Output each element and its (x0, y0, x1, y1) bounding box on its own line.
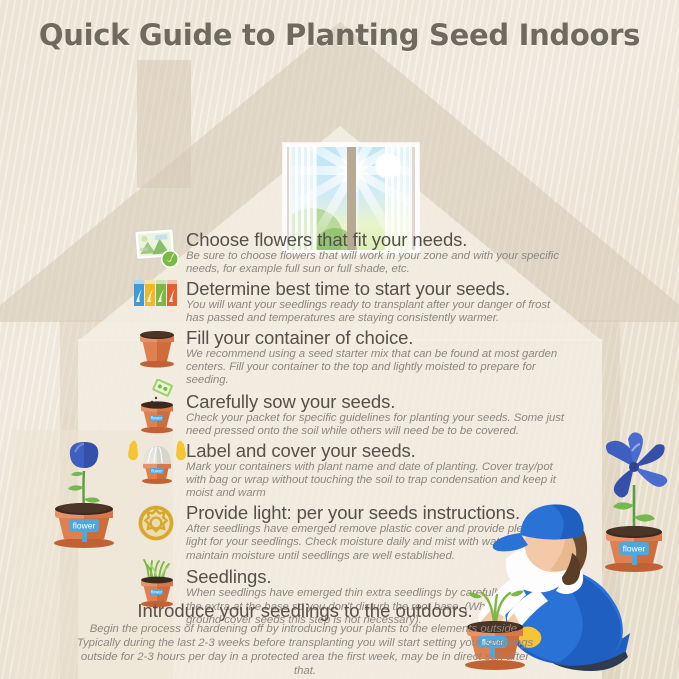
filled-pot-icon (132, 325, 182, 369)
potted-blue-bell-flower: flower (38, 415, 133, 555)
pot-label-text: flower (151, 415, 163, 420)
step-heading: Label and cover your seeds. (186, 440, 564, 461)
footer-body: Begin the process of hardening off by in… (70, 622, 540, 678)
step-heading: Choose flowers that fit your needs. (186, 229, 564, 250)
plant-label-text: flower (73, 521, 96, 531)
step-item-sow-seeds: flower Carefully sow your seeds. Check y… (132, 389, 564, 439)
step-body: Mark your containers with plant name and… (186, 461, 564, 501)
step-heading: Carefully sow your seeds. (186, 391, 564, 412)
pot-label-text: flower (151, 590, 163, 595)
step-body: You will want your seedlings ready to tr… (186, 299, 564, 326)
covered-pot-gloves-icon: flower (128, 436, 186, 486)
step-body: Check your packet for specific guideline… (186, 412, 564, 439)
step-item-fill-container: Fill your container of choice. We recomm… (132, 327, 564, 388)
infographic-poster: Quick Guide to Planting Seed Indoors (0, 0, 679, 679)
step-item-label-cover: flower Label and cover your seeds. Mark … (132, 440, 564, 501)
step-item-determine-time: Determine best time to start your seeds.… (132, 278, 564, 326)
page-title: Quick Guide to Planting Seed Indoors (0, 18, 679, 52)
step-body: We recommend using a seed starter mix th… (186, 348, 564, 388)
step-body: Be sure to choose flowers that will work… (186, 250, 564, 277)
seed-packets-icon (132, 276, 182, 320)
pot-label-text: flower (151, 468, 163, 473)
sun-icon (132, 502, 182, 546)
footer-heading: Introduce your seedlings to the outdoors… (70, 600, 540, 621)
step-item-choose-flowers: Choose flowers that fit your needs. Be s… (132, 229, 564, 277)
step-heading: Determine best time to start your seeds. (186, 278, 564, 299)
seed-catalog-icon (132, 227, 182, 271)
sowing-seeds-icon: flower (132, 379, 182, 435)
step-heading: Fill your container of choice. (186, 327, 564, 348)
footer-block: Introduce your seedlings to the outdoors… (70, 600, 540, 678)
